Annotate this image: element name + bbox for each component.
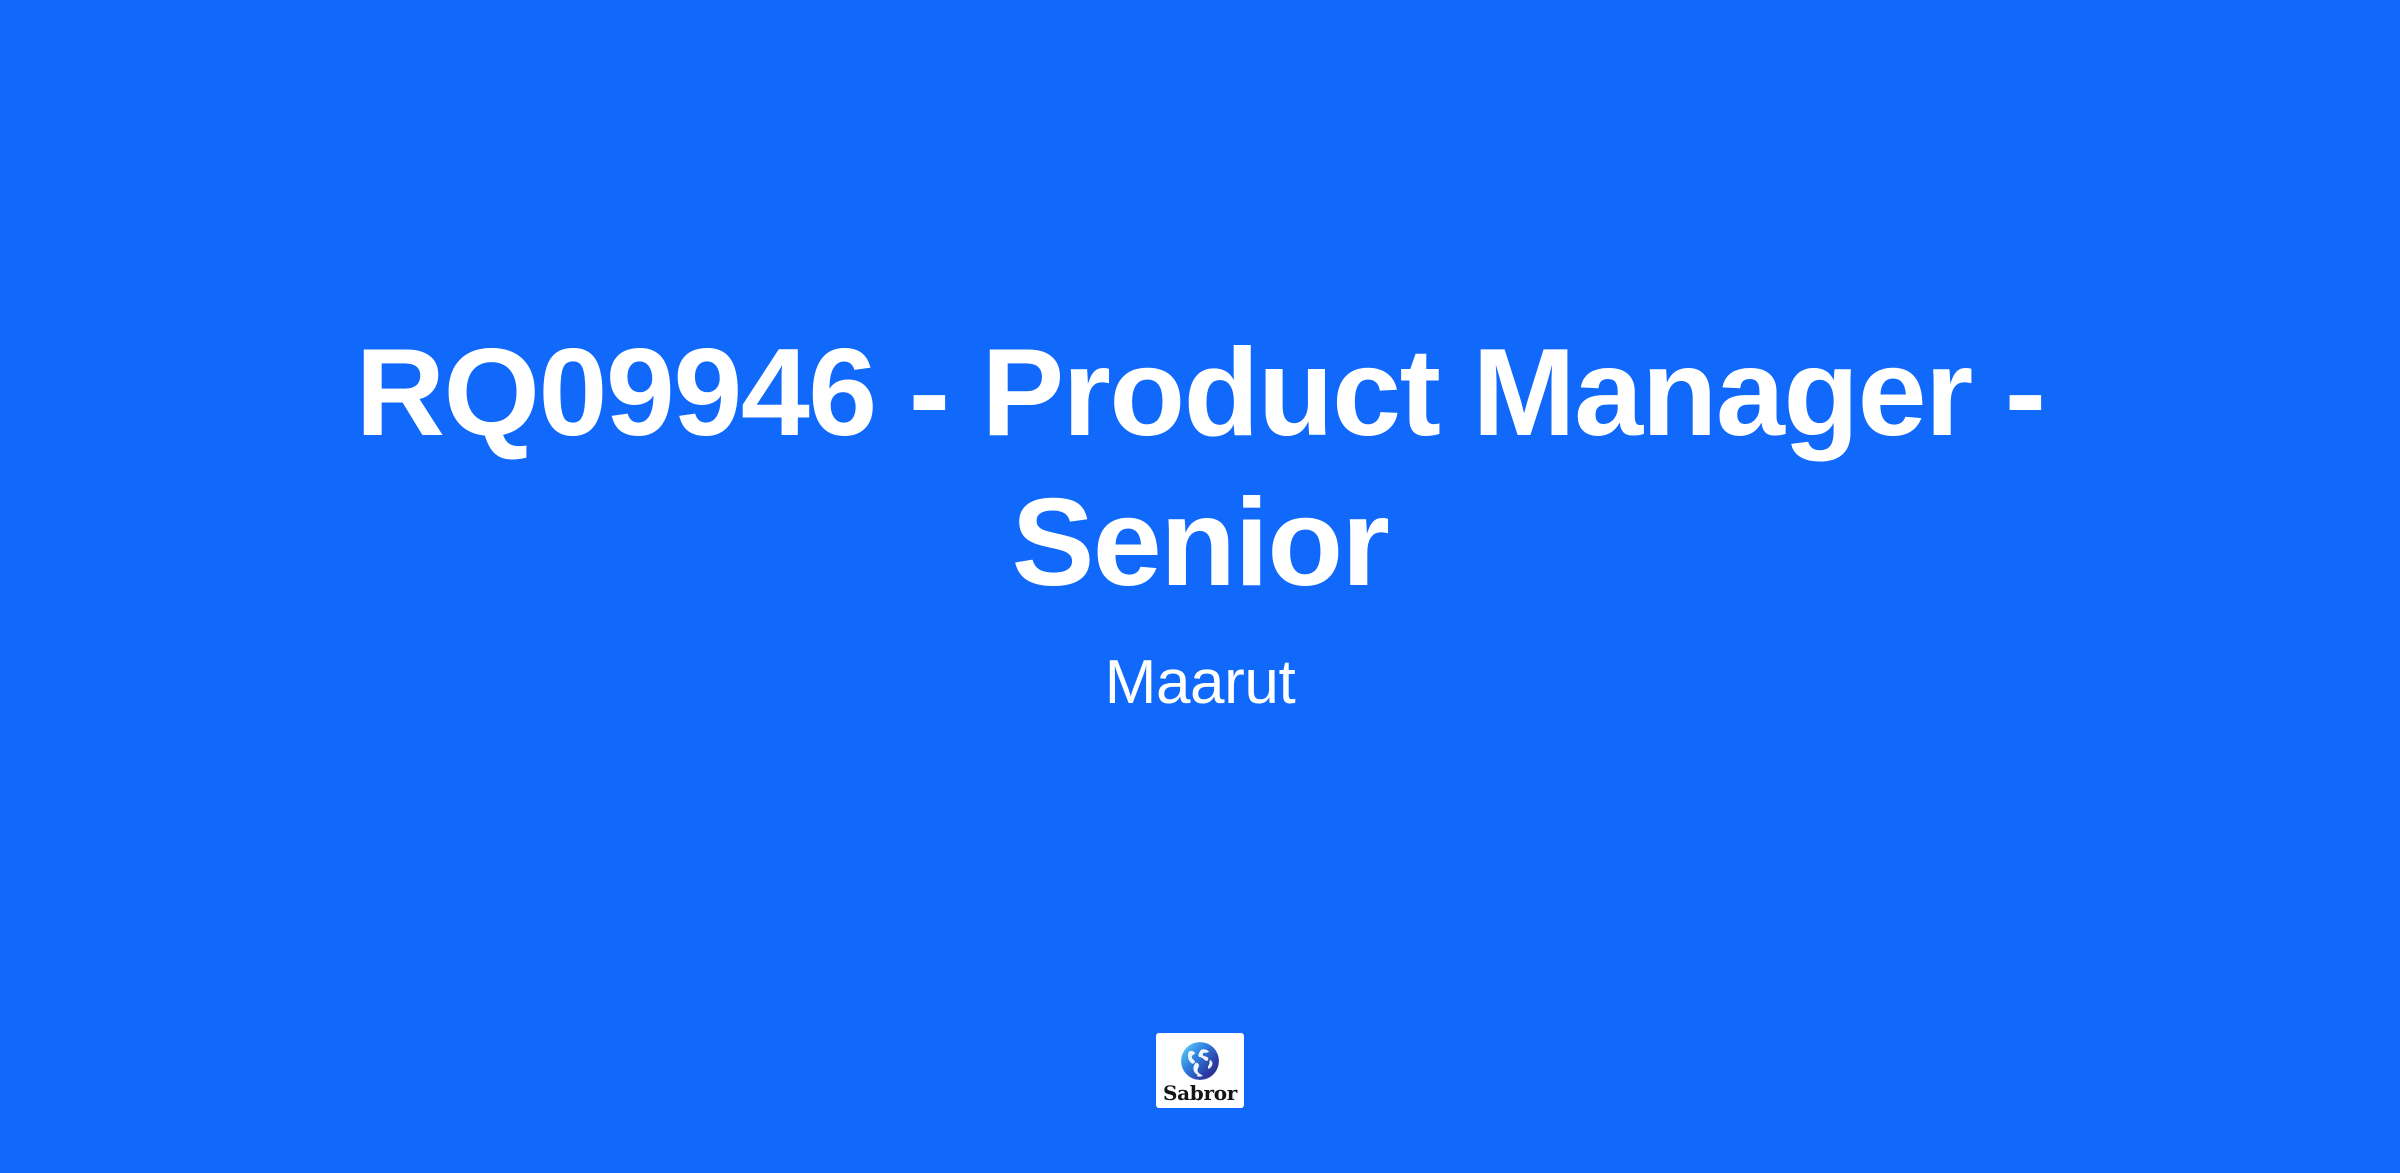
brand-footer: Sabror — [0, 1033, 2400, 1108]
brand-logo[interactable]: Sabror — [1156, 1033, 1244, 1108]
brand-wordmark: Sabror — [1163, 1083, 1237, 1103]
hero-section: RQ09946 - Product Manager - Senior Maaru… — [0, 318, 2400, 722]
company-name: Maarut — [340, 644, 2060, 722]
page-title: RQ09946 - Product Manager - Senior — [340, 318, 2060, 618]
job-posting-hero-page: RQ09946 - Product Manager - Senior Maaru… — [0, 0, 2400, 1173]
globe-icon — [1179, 1040, 1221, 1083]
